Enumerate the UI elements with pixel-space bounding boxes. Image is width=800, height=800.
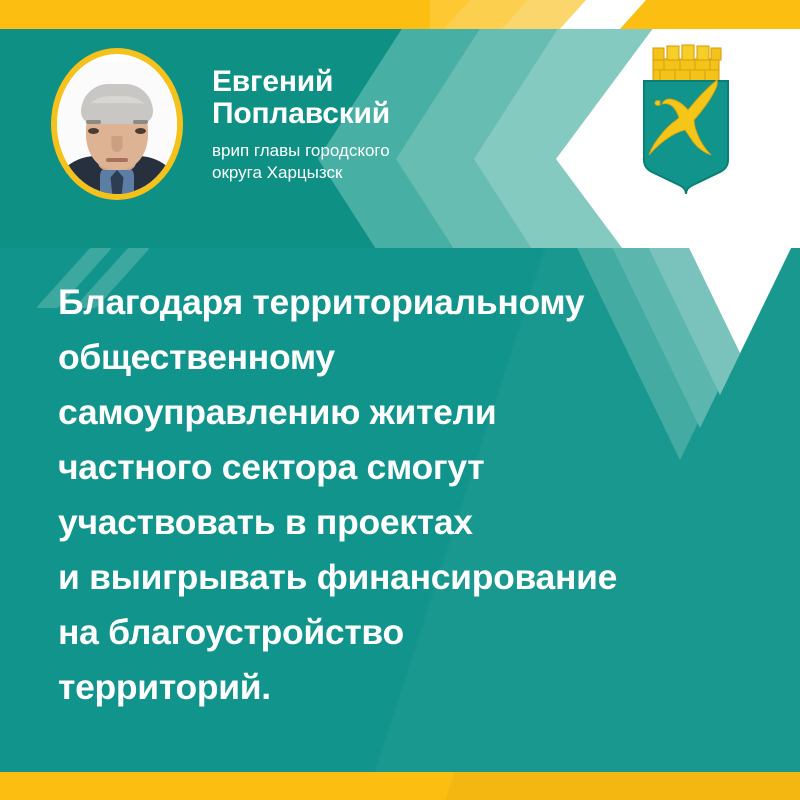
quote-line: территорий. xyxy=(58,660,758,715)
top-bar-chevrons xyxy=(430,0,800,29)
person-role-line-1: врип главы городского xyxy=(212,140,552,162)
shield-icon xyxy=(644,81,728,194)
coat-of-arms-emblem xyxy=(633,42,739,207)
quote-line: на благоустройство xyxy=(58,605,758,660)
person-role: врип главы городского округа Харцызск xyxy=(212,140,552,185)
crown-icon xyxy=(653,45,721,81)
portrait-photo xyxy=(56,62,178,200)
person-first-name: Евгений xyxy=(212,66,552,98)
quote-line: Благодаря территориальному xyxy=(58,275,758,330)
quote-line: частного сектора смогут xyxy=(58,440,758,495)
quote-line: участвовать в проектах xyxy=(58,495,758,550)
quote-text: Благодаря территориальному общественному… xyxy=(58,275,758,715)
person-name-block: Евгений Поплавский врип главы городского… xyxy=(212,66,552,185)
avatar xyxy=(51,48,183,200)
quote-card: Благодаря территориальному общественному… xyxy=(0,0,800,800)
quote-line: и выигрывать финансирование xyxy=(58,550,758,605)
bottom-accent-bar xyxy=(0,772,800,800)
quote-line: общественному xyxy=(58,330,758,385)
person-role-line-2: округа Харцызск xyxy=(212,162,552,184)
person-last-name: Поплавский xyxy=(212,98,552,130)
quote-line: самоуправлению жители xyxy=(58,385,758,440)
quote-body: Благодаря территориальному общественному… xyxy=(0,248,800,772)
